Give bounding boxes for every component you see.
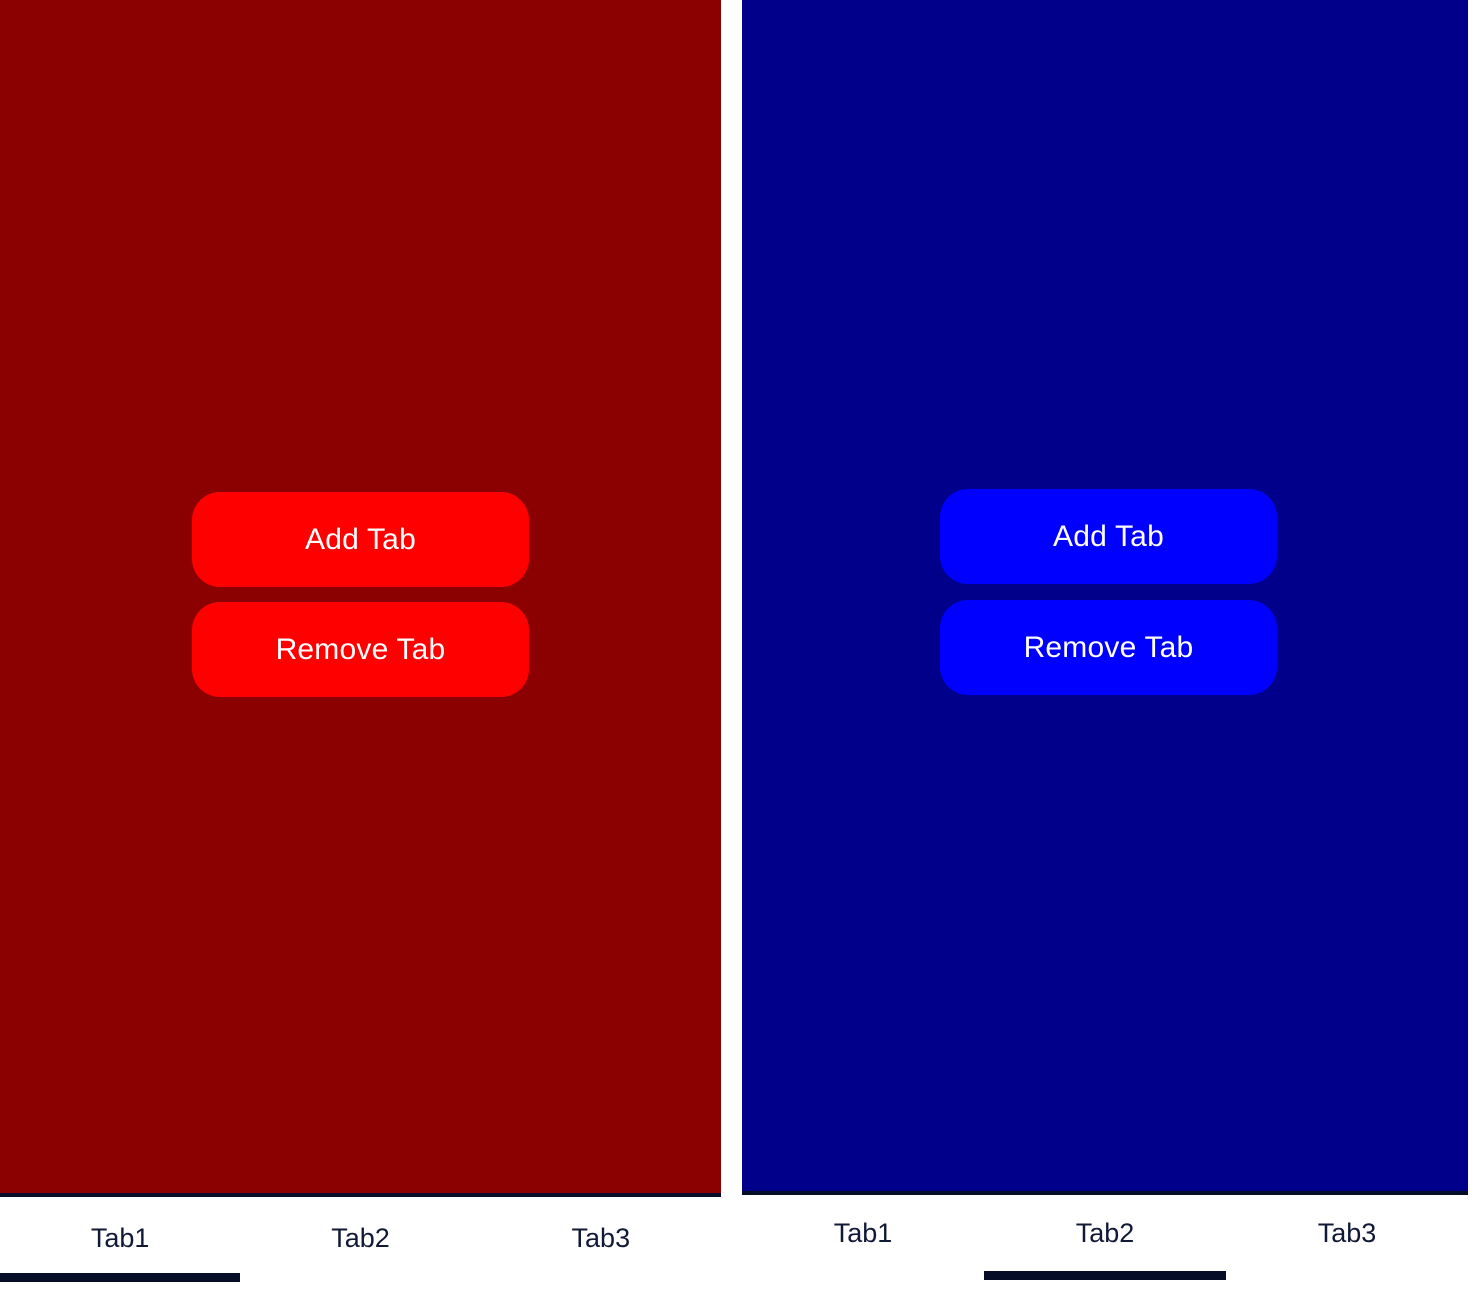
red-tab-item-tab2[interactable]: Tab2 [240, 1197, 480, 1304]
red-tab-item-tab1[interactable]: Tab1 [0, 1197, 240, 1304]
red-tab-label-tab1: Tab1 [91, 1223, 150, 1254]
blue-tab-label-tab1: Tab1 [834, 1218, 893, 1249]
red-tab-bar: Tab1 Tab2 Tab3 [0, 1197, 721, 1304]
screenshot-root: Add Tab Remove Tab Tab1 Tab2 Tab3 Add [0, 0, 1482, 1304]
blue-tab-label-tab2: Tab2 [1076, 1218, 1135, 1249]
blue-remove-tab-button[interactable]: Remove Tab [940, 600, 1277, 695]
red-tab-label-tab3: Tab3 [572, 1223, 631, 1254]
blue-tab-bar: Tab1 Tab2 Tab3 [742, 1195, 1468, 1304]
blue-page-body: Add Tab Remove Tab [742, 0, 1468, 1195]
blue-tab-item-tab3[interactable]: Tab3 [1226, 1195, 1468, 1304]
right-white-margin [1468, 0, 1482, 1304]
red-tab-label-tab2: Tab2 [331, 1223, 390, 1254]
blue-device-screen: Add Tab Remove Tab Tab1 Tab2 Tab3 [742, 0, 1468, 1304]
red-tab-active-indicator [0, 1273, 240, 1282]
red-page-body: Add Tab Remove Tab [0, 0, 721, 1197]
red-add-tab-button[interactable]: Add Tab [192, 492, 529, 587]
blue-tab-label-tab3: Tab3 [1318, 1218, 1377, 1249]
red-remove-tab-button[interactable]: Remove Tab [192, 602, 529, 697]
red-tab-item-tab3[interactable]: Tab3 [481, 1197, 721, 1304]
red-button-stack: Add Tab Remove Tab [192, 492, 529, 697]
red-device-screen: Add Tab Remove Tab Tab1 Tab2 Tab3 [0, 0, 721, 1304]
blue-add-tab-button[interactable]: Add Tab [940, 489, 1277, 584]
blue-tab-active-indicator [984, 1271, 1226, 1280]
blue-tab-item-tab2[interactable]: Tab2 [984, 1195, 1226, 1304]
panel-divider-gap [721, 0, 742, 1304]
blue-button-stack: Add Tab Remove Tab [940, 489, 1277, 695]
blue-tab-item-tab1[interactable]: Tab1 [742, 1195, 984, 1304]
